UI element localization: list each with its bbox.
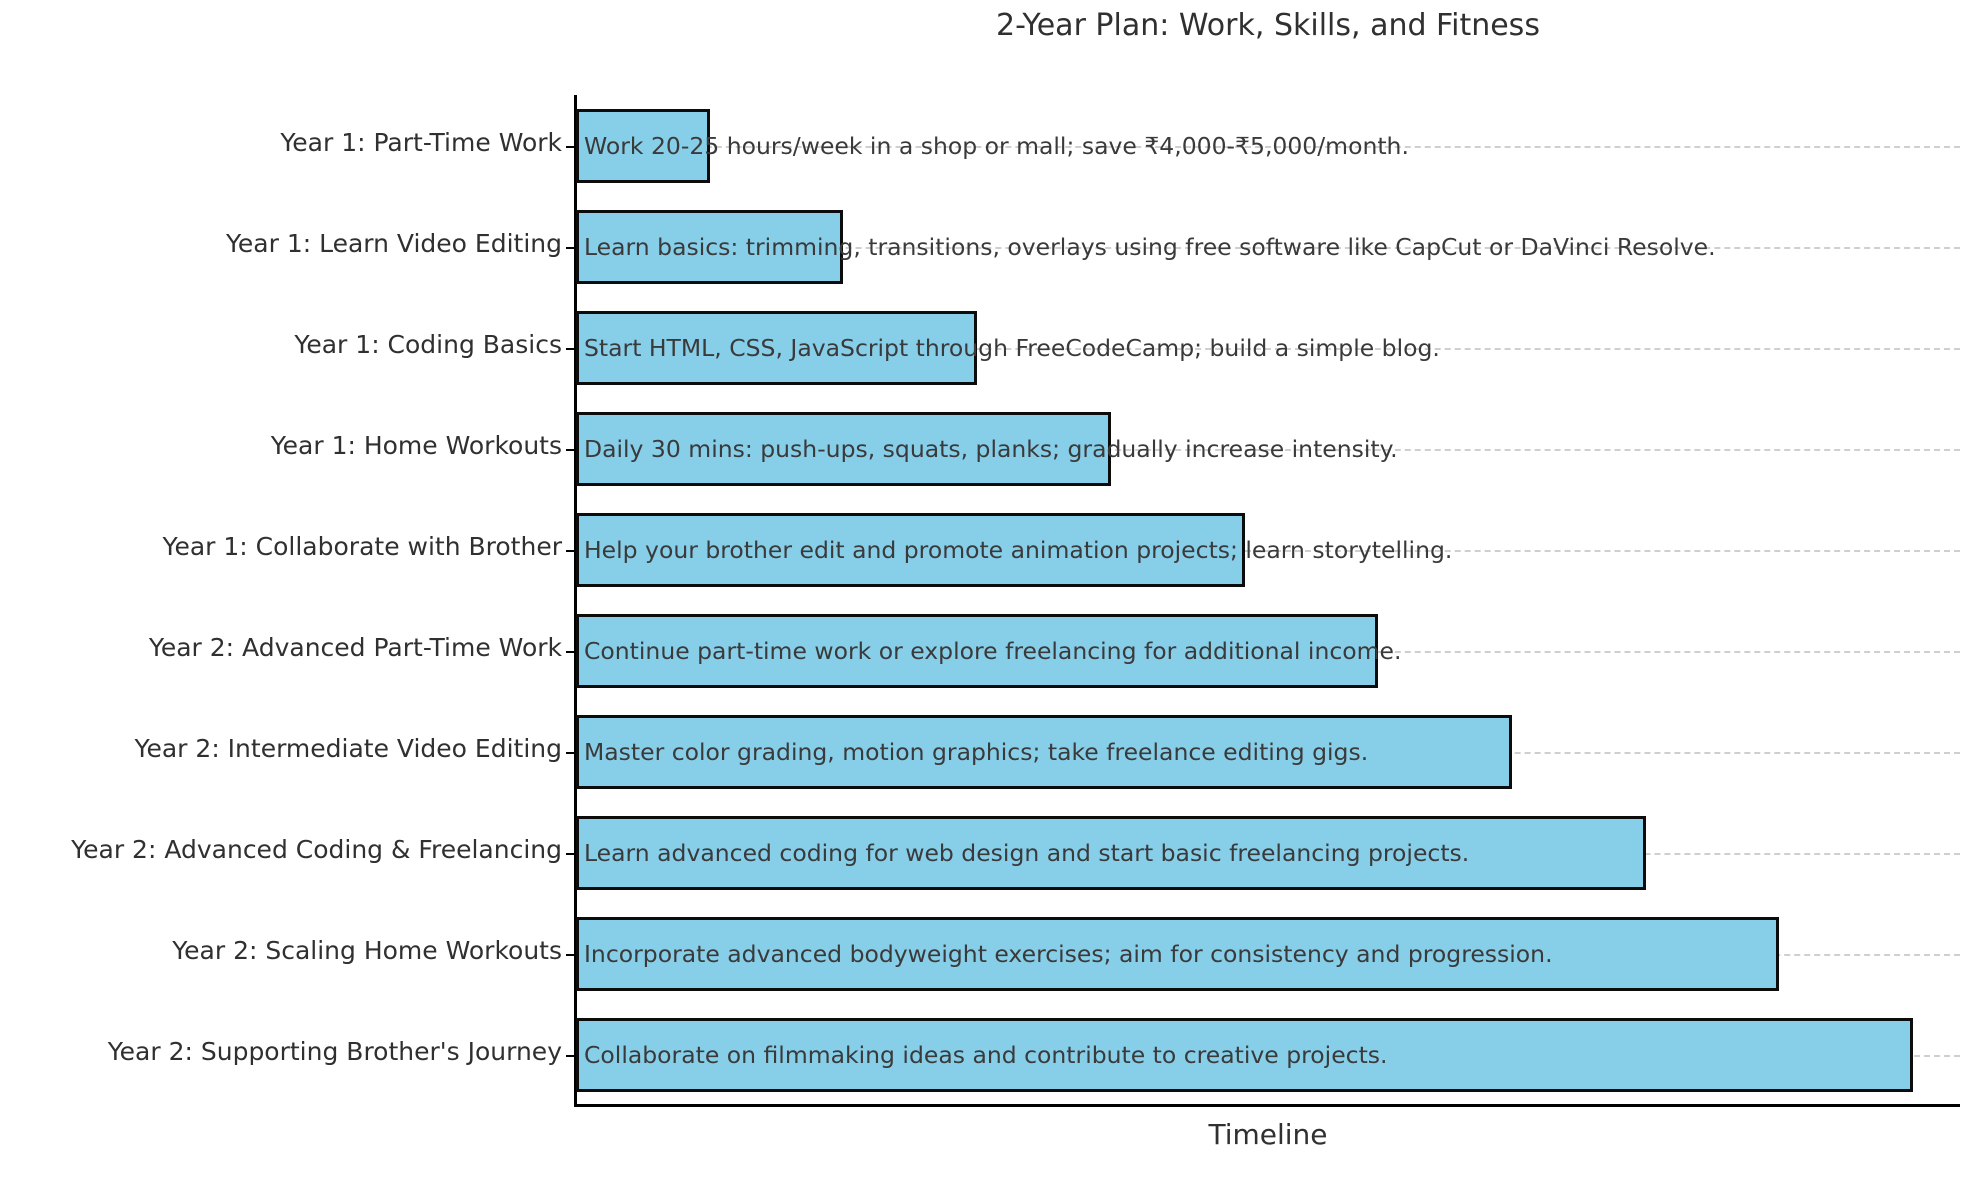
y-axis-tick-label: Year 2: Advanced Part-Time Work [149,635,562,660]
bar[interactable] [576,513,1245,587]
y-axis-tick [566,752,576,754]
y-axis-tick [566,550,576,552]
y-axis-tick-label: Year 1: Collaborate with Brother [163,534,562,559]
y-axis-tick [566,449,576,451]
bar[interactable] [576,715,1512,789]
y-axis-tick-label: Year 2: Supporting Brother's Journey [108,1039,562,1064]
y-axis-tick [566,348,576,350]
bar[interactable] [576,109,710,183]
bar-row[interactable]: Daily 30 mins: push-ups, squats, planks;… [576,412,1960,486]
y-axis-tick-label: Year 2: Intermediate Video Editing [135,736,562,761]
bar-row[interactable]: Collaborate on filmmaking ideas and cont… [576,1018,1960,1092]
bar[interactable] [576,614,1378,688]
bar[interactable] [576,816,1646,890]
chart-figure: 2-Year Plan: Work, Skills, and Fitness W… [0,0,1979,1180]
bar-row[interactable]: Continue part-time work or explore freel… [576,614,1960,688]
y-axis-tick-label: Year 2: Advanced Coding & Freelancing [71,837,562,862]
bar-row[interactable]: Learn basics: trimming, transitions, ove… [576,210,1960,284]
plot-area: Work 20-25 hours/week in a shop or mall;… [576,95,1960,1105]
bar-row[interactable]: Work 20-25 hours/week in a shop or mall;… [576,109,1960,183]
y-axis-tick [566,651,576,653]
bar[interactable] [576,210,843,284]
bar-row[interactable]: Learn advanced coding for web design and… [576,816,1960,890]
y-axis-tick [566,146,576,148]
bar-row[interactable]: Help your brother edit and promote anima… [576,513,1960,587]
y-axis-tick-label: Year 1: Coding Basics [294,332,562,357]
y-axis-tick-label: Year 1: Learn Video Editing [226,231,562,256]
chart-title: 2-Year Plan: Work, Skills, and Fitness [576,8,1960,43]
bar[interactable] [576,311,977,385]
y-axis-tick-label: Year 1: Part-Time Work [280,130,562,155]
y-axis-tick-label: Year 2: Scaling Home Workouts [172,938,562,963]
bar-row[interactable]: Incorporate advanced bodyweight exercise… [576,917,1960,991]
bar[interactable] [576,917,1779,991]
y-axis-tick [566,247,576,249]
y-axis-tick [566,954,576,956]
bar-row[interactable]: Start HTML, CSS, JavaScript through Free… [576,311,1960,385]
bar[interactable] [576,412,1111,486]
bar[interactable] [576,1018,1913,1092]
y-axis-tick [566,853,576,855]
x-axis-label: Timeline [576,1118,1960,1151]
y-axis-tick [566,1055,576,1057]
y-axis-tick-label: Year 1: Home Workouts [271,433,562,458]
bar-row[interactable]: Master color grading, motion graphics; t… [576,715,1960,789]
